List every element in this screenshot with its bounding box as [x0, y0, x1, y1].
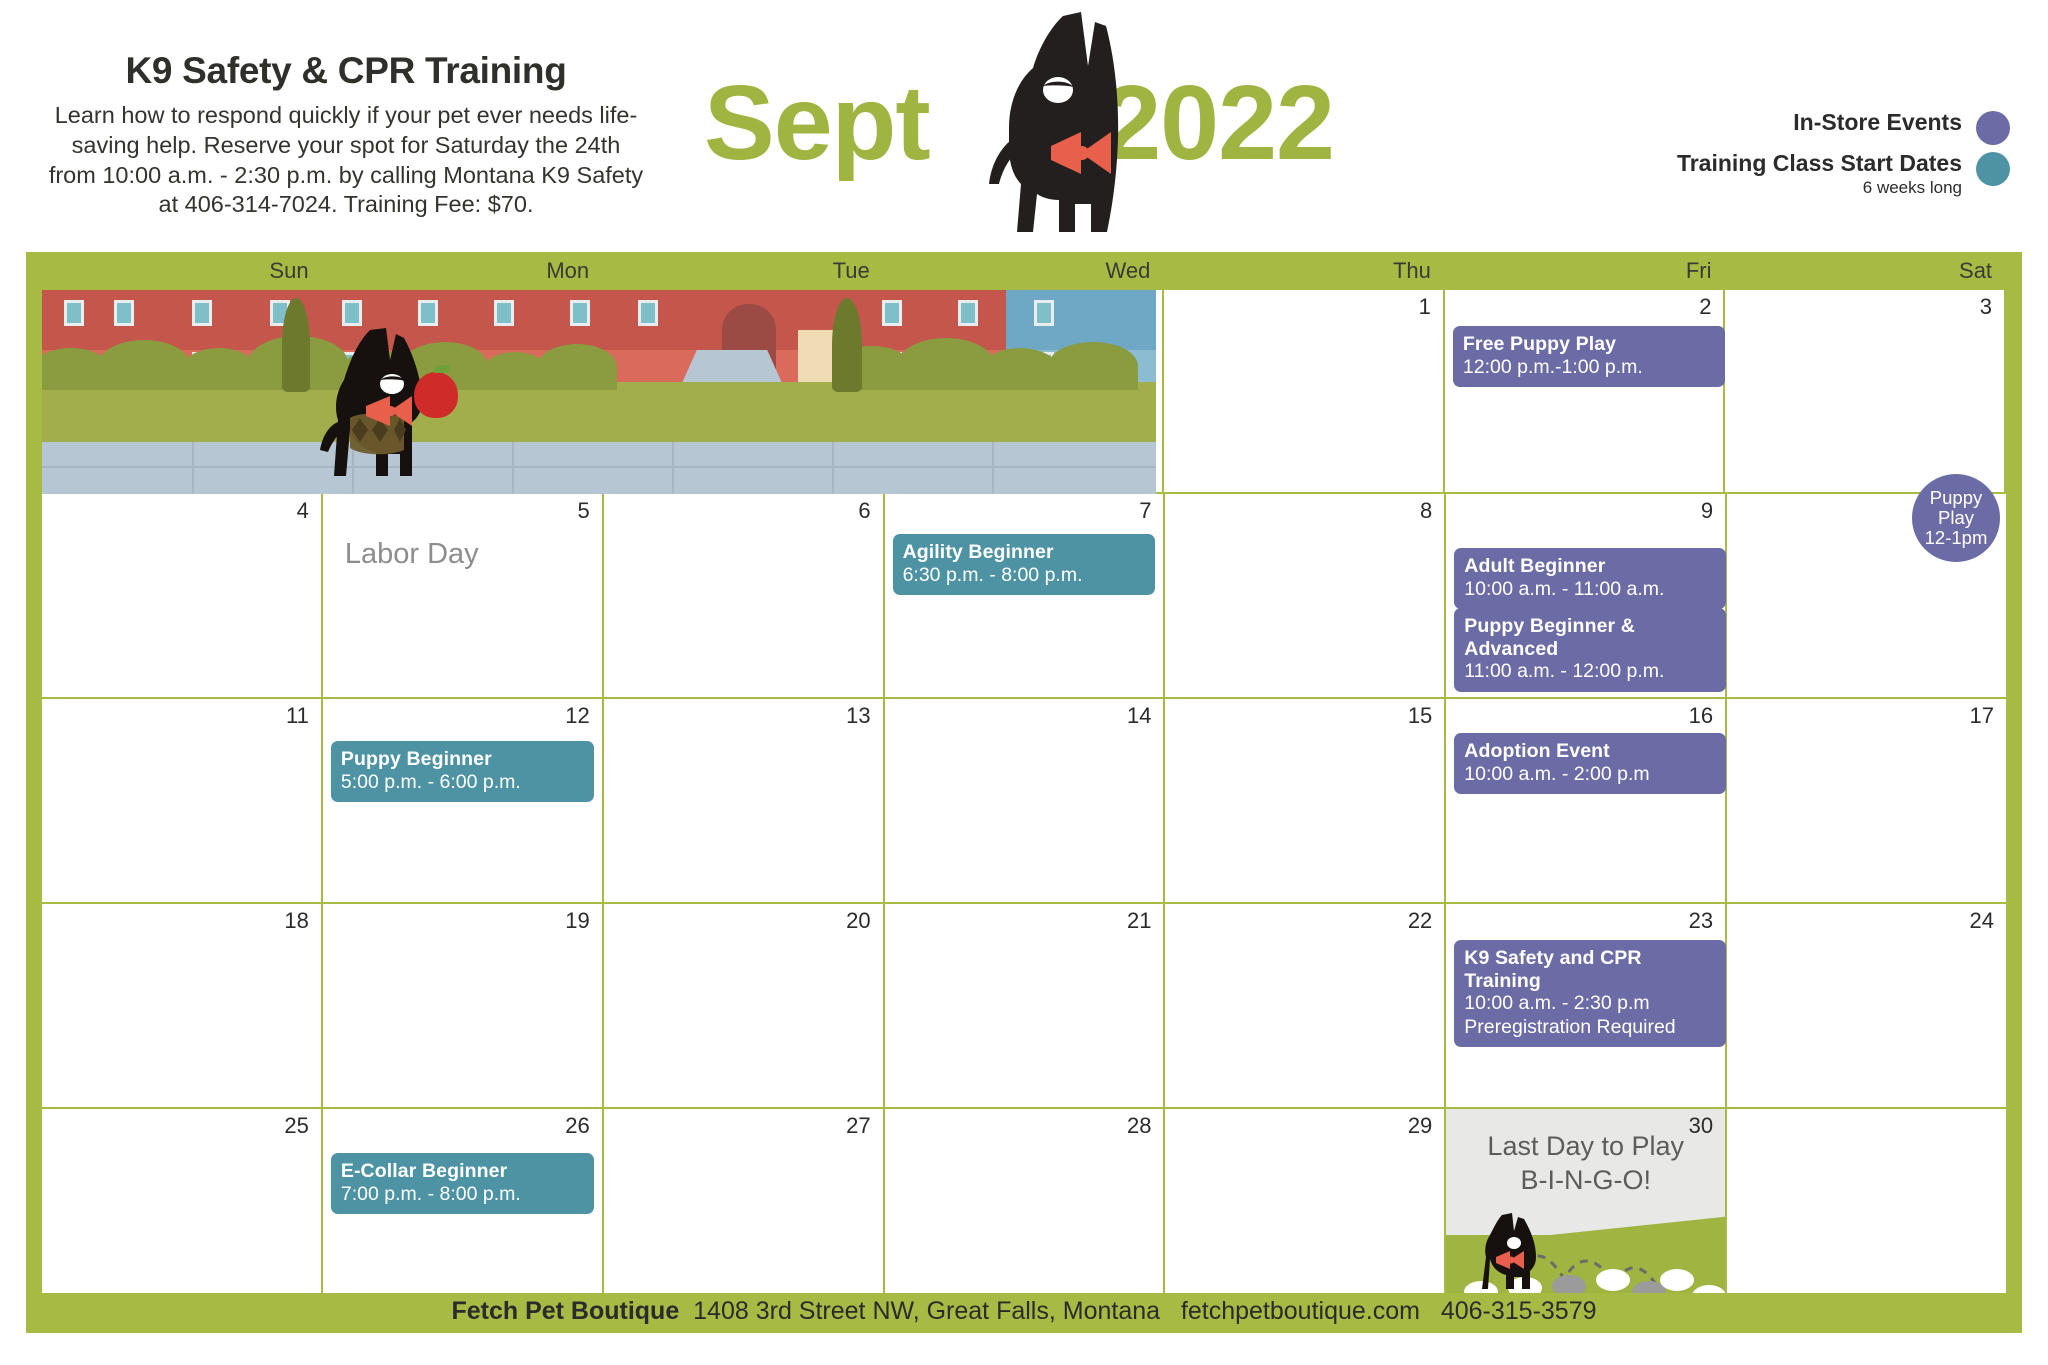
- event-title: E-Collar Beginner: [341, 1160, 584, 1183]
- event-time: 12:00 p.m.-1:00 p.m.: [1463, 356, 1715, 379]
- event-time: 11:00 a.m. - 12:00 p.m.: [1464, 660, 1716, 683]
- day-name-thu: Thu: [1164, 252, 1445, 290]
- day-cell-21[interactable]: 21: [885, 904, 1166, 1107]
- day-cell-14[interactable]: 14: [885, 699, 1166, 902]
- event-time: 10:00 a.m. - 2:30 p.m: [1464, 992, 1716, 1015]
- badge-line-1: Puppy: [1930, 488, 1982, 508]
- apple-icon: [414, 372, 458, 418]
- legend-label-training: Training Class Start Dates: [1677, 151, 1962, 176]
- day-number: 30: [1689, 1113, 1713, 1139]
- day-cell-1[interactable]: 1: [1164, 290, 1445, 492]
- footer-business-name: Fetch Pet Boutique: [451, 1297, 679, 1325]
- day-number: 29: [1408, 1113, 1432, 1139]
- promo-body: Learn how to respond quickly if your pet…: [46, 101, 646, 220]
- legend-item-in-store: In-Store Events: [1677, 110, 2010, 145]
- day-cell-24[interactable]: 24: [1727, 904, 2006, 1107]
- day-cell-27[interactable]: 27: [604, 1109, 885, 1322]
- calendar-week-row: 4 5 Labor Day 6 7 Agility Beginner 6:30 …: [42, 494, 2006, 699]
- day-cell-18[interactable]: 18: [42, 904, 323, 1107]
- event-time: 5:00 p.m. - 6:00 p.m.: [341, 771, 584, 794]
- day-number: 7: [1139, 498, 1151, 524]
- event-note: Preregistration Required: [1464, 1016, 1716, 1039]
- event-free-puppy-play[interactable]: Free Puppy Play 12:00 p.m.-1:00 p.m.: [1453, 326, 1725, 387]
- event-title: Puppy Beginner & Advanced: [1464, 615, 1716, 660]
- day-cell-9[interactable]: 9 Adult Beginner 10:00 a.m. - 11:00 a.m.…: [1446, 494, 1727, 697]
- day-number: 1: [1419, 294, 1431, 320]
- day-number: 6: [858, 498, 870, 524]
- legend-item-training: Training Class Start Dates 6 weeks long: [1677, 151, 2010, 199]
- day-cell-5[interactable]: 5 Labor Day: [323, 494, 604, 697]
- holiday-label-labor-day: Labor Day: [345, 538, 479, 571]
- day-cell-29[interactable]: 29: [1165, 1109, 1446, 1322]
- day-cell-30[interactable]: Last Day to Play B-I-N-G-O!: [1446, 1109, 1727, 1322]
- event-agility-beginner[interactable]: Agility Beginner 6:30 p.m. - 8:00 p.m.: [893, 534, 1156, 595]
- day-number: 20: [846, 908, 870, 934]
- day-cell-26[interactable]: 26 E-Collar Beginner 7:00 p.m. - 8:00 p.…: [323, 1109, 604, 1322]
- day-cell-2[interactable]: 2 Free Puppy Play 12:00 p.m.-1:00 p.m.: [1445, 290, 1726, 492]
- day-cell-11[interactable]: 11: [42, 699, 323, 902]
- day-number: 11: [286, 703, 309, 729]
- event-title: Adoption Event: [1464, 740, 1716, 763]
- day-name-sat: Sat: [1725, 252, 2006, 290]
- bingo-line-1: Last Day to Play: [1446, 1131, 1725, 1162]
- event-puppy-beginner-advanced[interactable]: Puppy Beginner & Advanced 11:00 a.m. - 1…: [1454, 608, 1726, 692]
- day-number: 14: [1127, 703, 1151, 729]
- day-number: 17: [1970, 703, 1994, 729]
- footer-website[interactable]: fetchpetboutique.com: [1181, 1297, 1420, 1325]
- day-name-tue: Tue: [603, 252, 884, 290]
- badge-line-2: Play: [1938, 508, 1974, 528]
- day-cell-15[interactable]: 15: [1165, 699, 1446, 902]
- calendar-week-row: 18 19 20 21 22 23 K9 Safety and CPR T: [42, 904, 2006, 1109]
- event-puppy-beginner[interactable]: Puppy Beginner 5:00 p.m. - 6:00 p.m.: [331, 741, 594, 802]
- event-k9-safety-cpr-training[interactable]: K9 Safety and CPR Training 10:00 a.m. - …: [1454, 940, 1726, 1047]
- day-cell-22[interactable]: 22: [1165, 904, 1446, 1107]
- badge-line-3: 12-1pm: [1925, 528, 1988, 548]
- promo-block: K9 Safety & CPR Training Learn how to re…: [46, 52, 646, 220]
- day-cell-7[interactable]: 7 Agility Beginner 6:30 p.m. - 8:00 p.m.: [885, 494, 1166, 697]
- event-adult-beginner[interactable]: Adult Beginner 10:00 a.m. - 11:00 a.m.: [1454, 548, 1726, 609]
- event-adoption-event[interactable]: Adoption Event 10:00 a.m. - 2:00 p.m: [1454, 733, 1726, 794]
- day-number: 3: [1980, 294, 1992, 320]
- day-cell-8[interactable]: 8: [1165, 494, 1446, 697]
- calendar-page: K9 Safety & CPR Training Learn how to re…: [0, 0, 2048, 1365]
- page-footer: Fetch Pet Boutique 1408 3rd Street NW, G…: [26, 1293, 2022, 1333]
- calendar-grid: 1 2 Free Puppy Play 12:00 p.m.-1:00 p.m.…: [42, 290, 2006, 1322]
- event-title: Free Puppy Play: [1463, 333, 1715, 356]
- day-name-row: Sun Mon Tue Wed Thu Fri Sat: [42, 252, 2006, 290]
- day-number: 8: [1420, 498, 1432, 524]
- event-title: Agility Beginner: [903, 541, 1146, 564]
- legend-dot-training-icon: [1976, 152, 2010, 186]
- day-cell-12[interactable]: 12 Puppy Beginner 5:00 p.m. - 6:00 p.m.: [323, 699, 604, 902]
- day-cell-blank: [1727, 1109, 2006, 1322]
- bingo-illustration: Last Day to Play B-I-N-G-O!: [1446, 1109, 1725, 1322]
- day-number: 28: [1127, 1113, 1151, 1139]
- event-e-collar-beginner[interactable]: E-Collar Beginner 7:00 p.m. - 8:00 p.m.: [331, 1153, 594, 1214]
- day-number: 27: [846, 1113, 870, 1139]
- day-number: 2: [1699, 294, 1711, 320]
- page-header: K9 Safety & CPR Training Learn how to re…: [0, 0, 2048, 252]
- day-cell-6[interactable]: 6: [604, 494, 885, 697]
- event-title: K9 Safety and CPR Training: [1464, 947, 1716, 992]
- bingo-dog-icon: [1472, 1213, 1554, 1295]
- day-number: 21: [1127, 908, 1151, 934]
- day-cell-4[interactable]: 4: [42, 494, 323, 697]
- day-name-wed: Wed: [884, 252, 1165, 290]
- day-cell-19[interactable]: 19: [323, 904, 604, 1107]
- footer-phone[interactable]: 406-315-3579: [1441, 1297, 1597, 1325]
- legend-sub-training: 6 weeks long: [1677, 178, 1962, 198]
- day-number: 18: [284, 908, 308, 934]
- legend-dot-in-store-icon: [1976, 111, 2010, 145]
- day-number: 16: [1689, 703, 1713, 729]
- month-title-block: Sept 2022: [700, 8, 1340, 244]
- day-cell-28[interactable]: 28: [885, 1109, 1166, 1322]
- day-number: 25: [284, 1113, 308, 1139]
- bingo-line-2: B-I-N-G-O!: [1446, 1165, 1725, 1196]
- event-time: 7:00 p.m. - 8:00 p.m.: [341, 1183, 584, 1206]
- day-number: 9: [1701, 498, 1713, 524]
- day-cell-25[interactable]: 25: [42, 1109, 323, 1322]
- calendar-week-row: 1 2 Free Puppy Play 12:00 p.m.-1:00 p.m.…: [42, 290, 2006, 494]
- event-title: Puppy Beginner: [341, 748, 584, 771]
- day-cell-3[interactable]: 3: [1725, 290, 2006, 492]
- day-number: 19: [565, 908, 589, 934]
- scottie-dog-bowtie-icon: [955, 8, 1155, 238]
- day-number: 13: [846, 703, 870, 729]
- footer-address: 1408 3rd Street NW, Great Falls, Montana: [693, 1297, 1160, 1325]
- schoolyard-dog-with-apple-illustration: [42, 290, 1156, 494]
- month-label: Sept: [704, 70, 930, 176]
- day-name-fri: Fri: [1445, 252, 1726, 290]
- calendar-week-row: 25 26 E-Collar Beginner 7:00 p.m. - 8:00…: [42, 1109, 2006, 1322]
- day-number: 5: [577, 498, 589, 524]
- puppy-play-badge[interactable]: Puppy Play 12-1pm: [1912, 474, 2000, 562]
- day-number: 24: [1970, 908, 1994, 934]
- day-name-sun: Sun: [42, 252, 323, 290]
- day-cell-17[interactable]: 17: [1727, 699, 2006, 902]
- promo-title: K9 Safety & CPR Training: [46, 52, 646, 91]
- day-name-mon: Mon: [323, 252, 604, 290]
- day-cell-20[interactable]: 20: [604, 904, 885, 1107]
- day-number: 12: [565, 703, 589, 729]
- day-number: 4: [297, 498, 309, 524]
- day-cell-23[interactable]: 23 K9 Safety and CPR Training 10:00 a.m.…: [1446, 904, 1727, 1107]
- day-number: 15: [1408, 703, 1432, 729]
- event-time: 10:00 a.m. - 2:00 p.m: [1464, 763, 1716, 786]
- event-title: Adult Beginner: [1464, 555, 1716, 578]
- day-number: 22: [1408, 908, 1432, 934]
- day-cell-13[interactable]: 13: [604, 699, 885, 902]
- calendar-week-row: 11 12 Puppy Beginner 5:00 p.m. - 6:00 p.…: [42, 699, 2006, 904]
- event-time: 10:00 a.m. - 11:00 a.m.: [1464, 578, 1716, 601]
- day-number: 26: [565, 1113, 589, 1139]
- legend: In-Store Events Training Class Start Dat…: [1677, 110, 2010, 205]
- day-cell-10[interactable]: Puppy Play 12-1pm: [1727, 494, 2006, 697]
- legend-label-in-store: In-Store Events: [1793, 110, 1962, 135]
- day-number: 23: [1689, 908, 1713, 934]
- calendar-body: Sun Mon Tue Wed Thu Fri Sat 1 2: [26, 252, 2022, 1333]
- event-time: 6:30 p.m. - 8:00 p.m.: [903, 564, 1146, 587]
- day-cell-16[interactable]: 16 Adoption Event 10:00 a.m. - 2:00 p.m: [1446, 699, 1727, 902]
